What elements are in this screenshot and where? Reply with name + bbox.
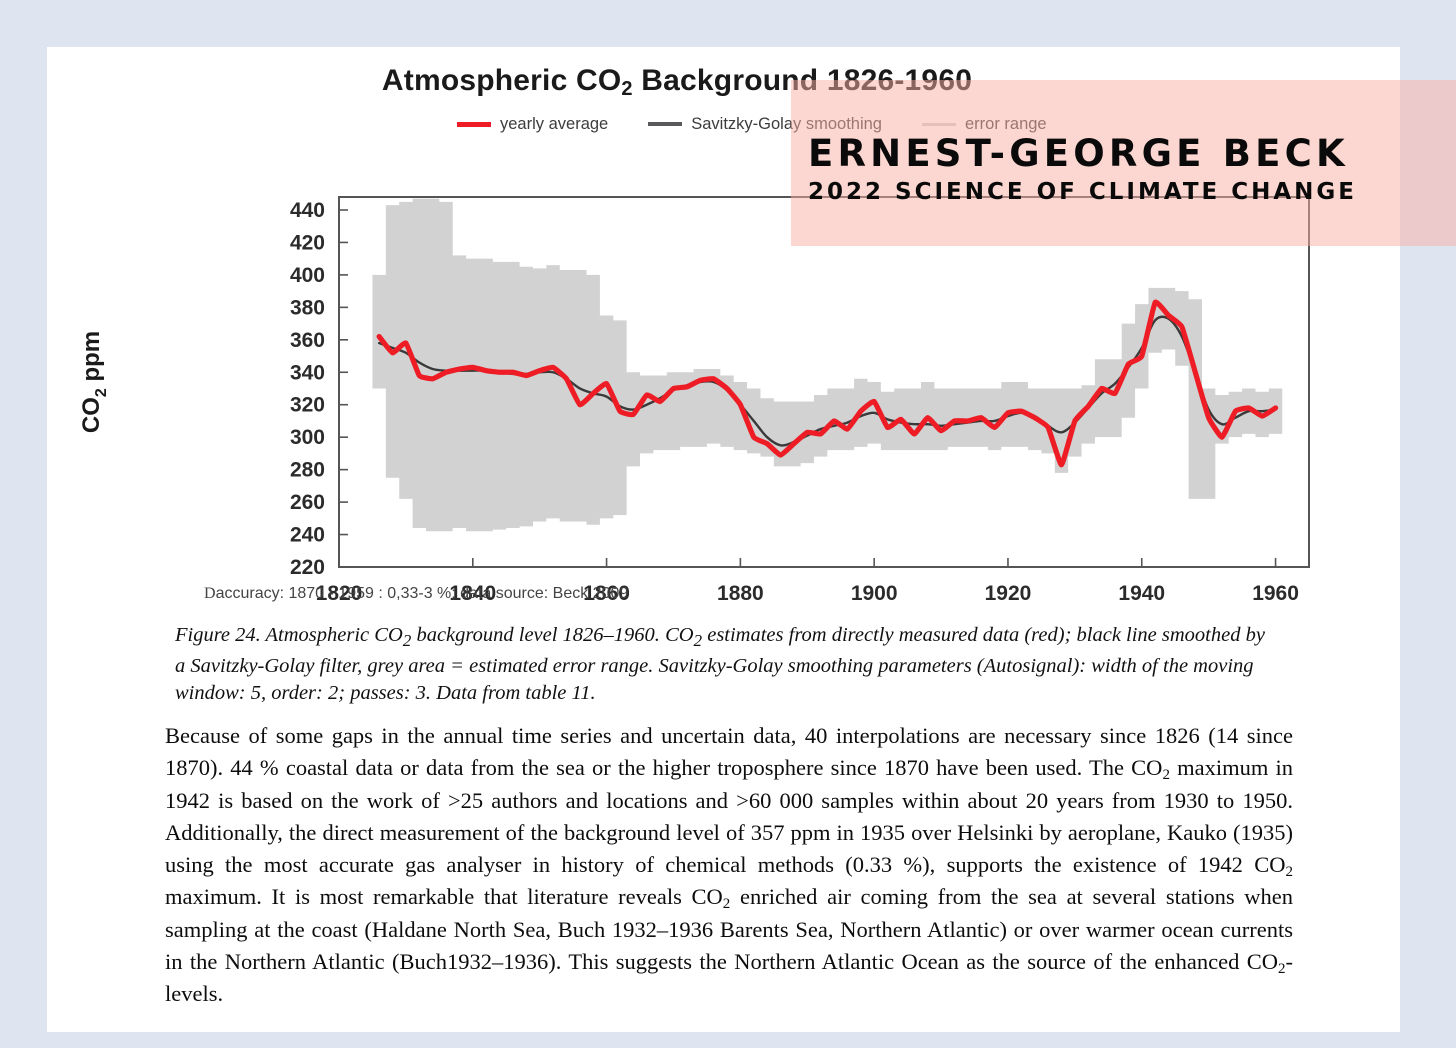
body-paragraph: Because of some gaps in the annual time … [165,720,1293,1011]
legend-label-error-range: error range [965,115,1047,134]
svg-text:440: 440 [290,199,325,222]
co2-line-chart: 220240260280300320340360380400420440 182… [47,142,1400,612]
accuracy-note-text: accuracy: 1870 - 1959 : 0,33-3 %; data s… [216,585,629,602]
chart-plot-area: 220240260280300320340360380400420440 182… [47,142,1400,612]
svg-text:1900: 1900 [851,582,898,605]
chart-legend: yearly average Savitzky-Golay smoothing … [457,112,1217,136]
figure-caption: Figure 24. Atmospheric CO2 background le… [175,622,1280,707]
svg-text:260: 260 [290,491,325,514]
accuracy-note-glyph: D [204,585,216,602]
svg-text:340: 340 [290,361,325,384]
svg-text:320: 320 [290,394,325,417]
svg-text:380: 380 [290,296,325,319]
svg-text:280: 280 [290,459,325,482]
svg-text:400: 400 [290,264,325,287]
svg-text:360: 360 [290,329,325,352]
chart-title-subscript: 2 [621,78,632,100]
svg-text:220: 220 [290,556,325,579]
svg-text:1960: 1960 [1252,582,1299,605]
legend-item-yearly-average: yearly average [457,115,608,134]
legend-swatch-smoothing [648,122,682,126]
y-axis-title: CO2 ppm [78,331,110,433]
document-page: Atmospheric CO2 Background 1826-1960 yea… [47,47,1400,1032]
chart-title: Atmospheric CO2 Background 1826-1960 [47,64,1307,98]
figure-24: Atmospheric CO2 Background 1826-1960 yea… [47,47,1400,612]
svg-text:1880: 1880 [717,582,764,605]
svg-text:240: 240 [290,524,325,547]
chart-title-prefix: Atmospheric CO [382,64,622,97]
svg-text:1920: 1920 [985,582,1032,605]
svg-text:1940: 1940 [1118,582,1165,605]
legend-swatch-yearly-average [457,122,491,127]
error-range-band [372,199,1282,532]
svg-text:CO2 ppm: CO2 ppm [78,331,110,433]
legend-swatch-error-range [922,123,956,126]
legend-label-smoothing: Savitzky-Golay smoothing [691,115,882,134]
svg-text:420: 420 [290,231,325,254]
legend-label-yearly-average: yearly average [500,115,608,134]
accuracy-note: Daccuracy: 1870 - 1959 : 0,33-3 %; data … [204,585,628,603]
svg-text:300: 300 [290,426,325,449]
legend-item-smoothing: Savitzky-Golay smoothing [648,115,882,134]
legend-item-error-range: error range [922,115,1047,134]
chart-title-suffix: Background 1826-1960 [633,64,972,97]
